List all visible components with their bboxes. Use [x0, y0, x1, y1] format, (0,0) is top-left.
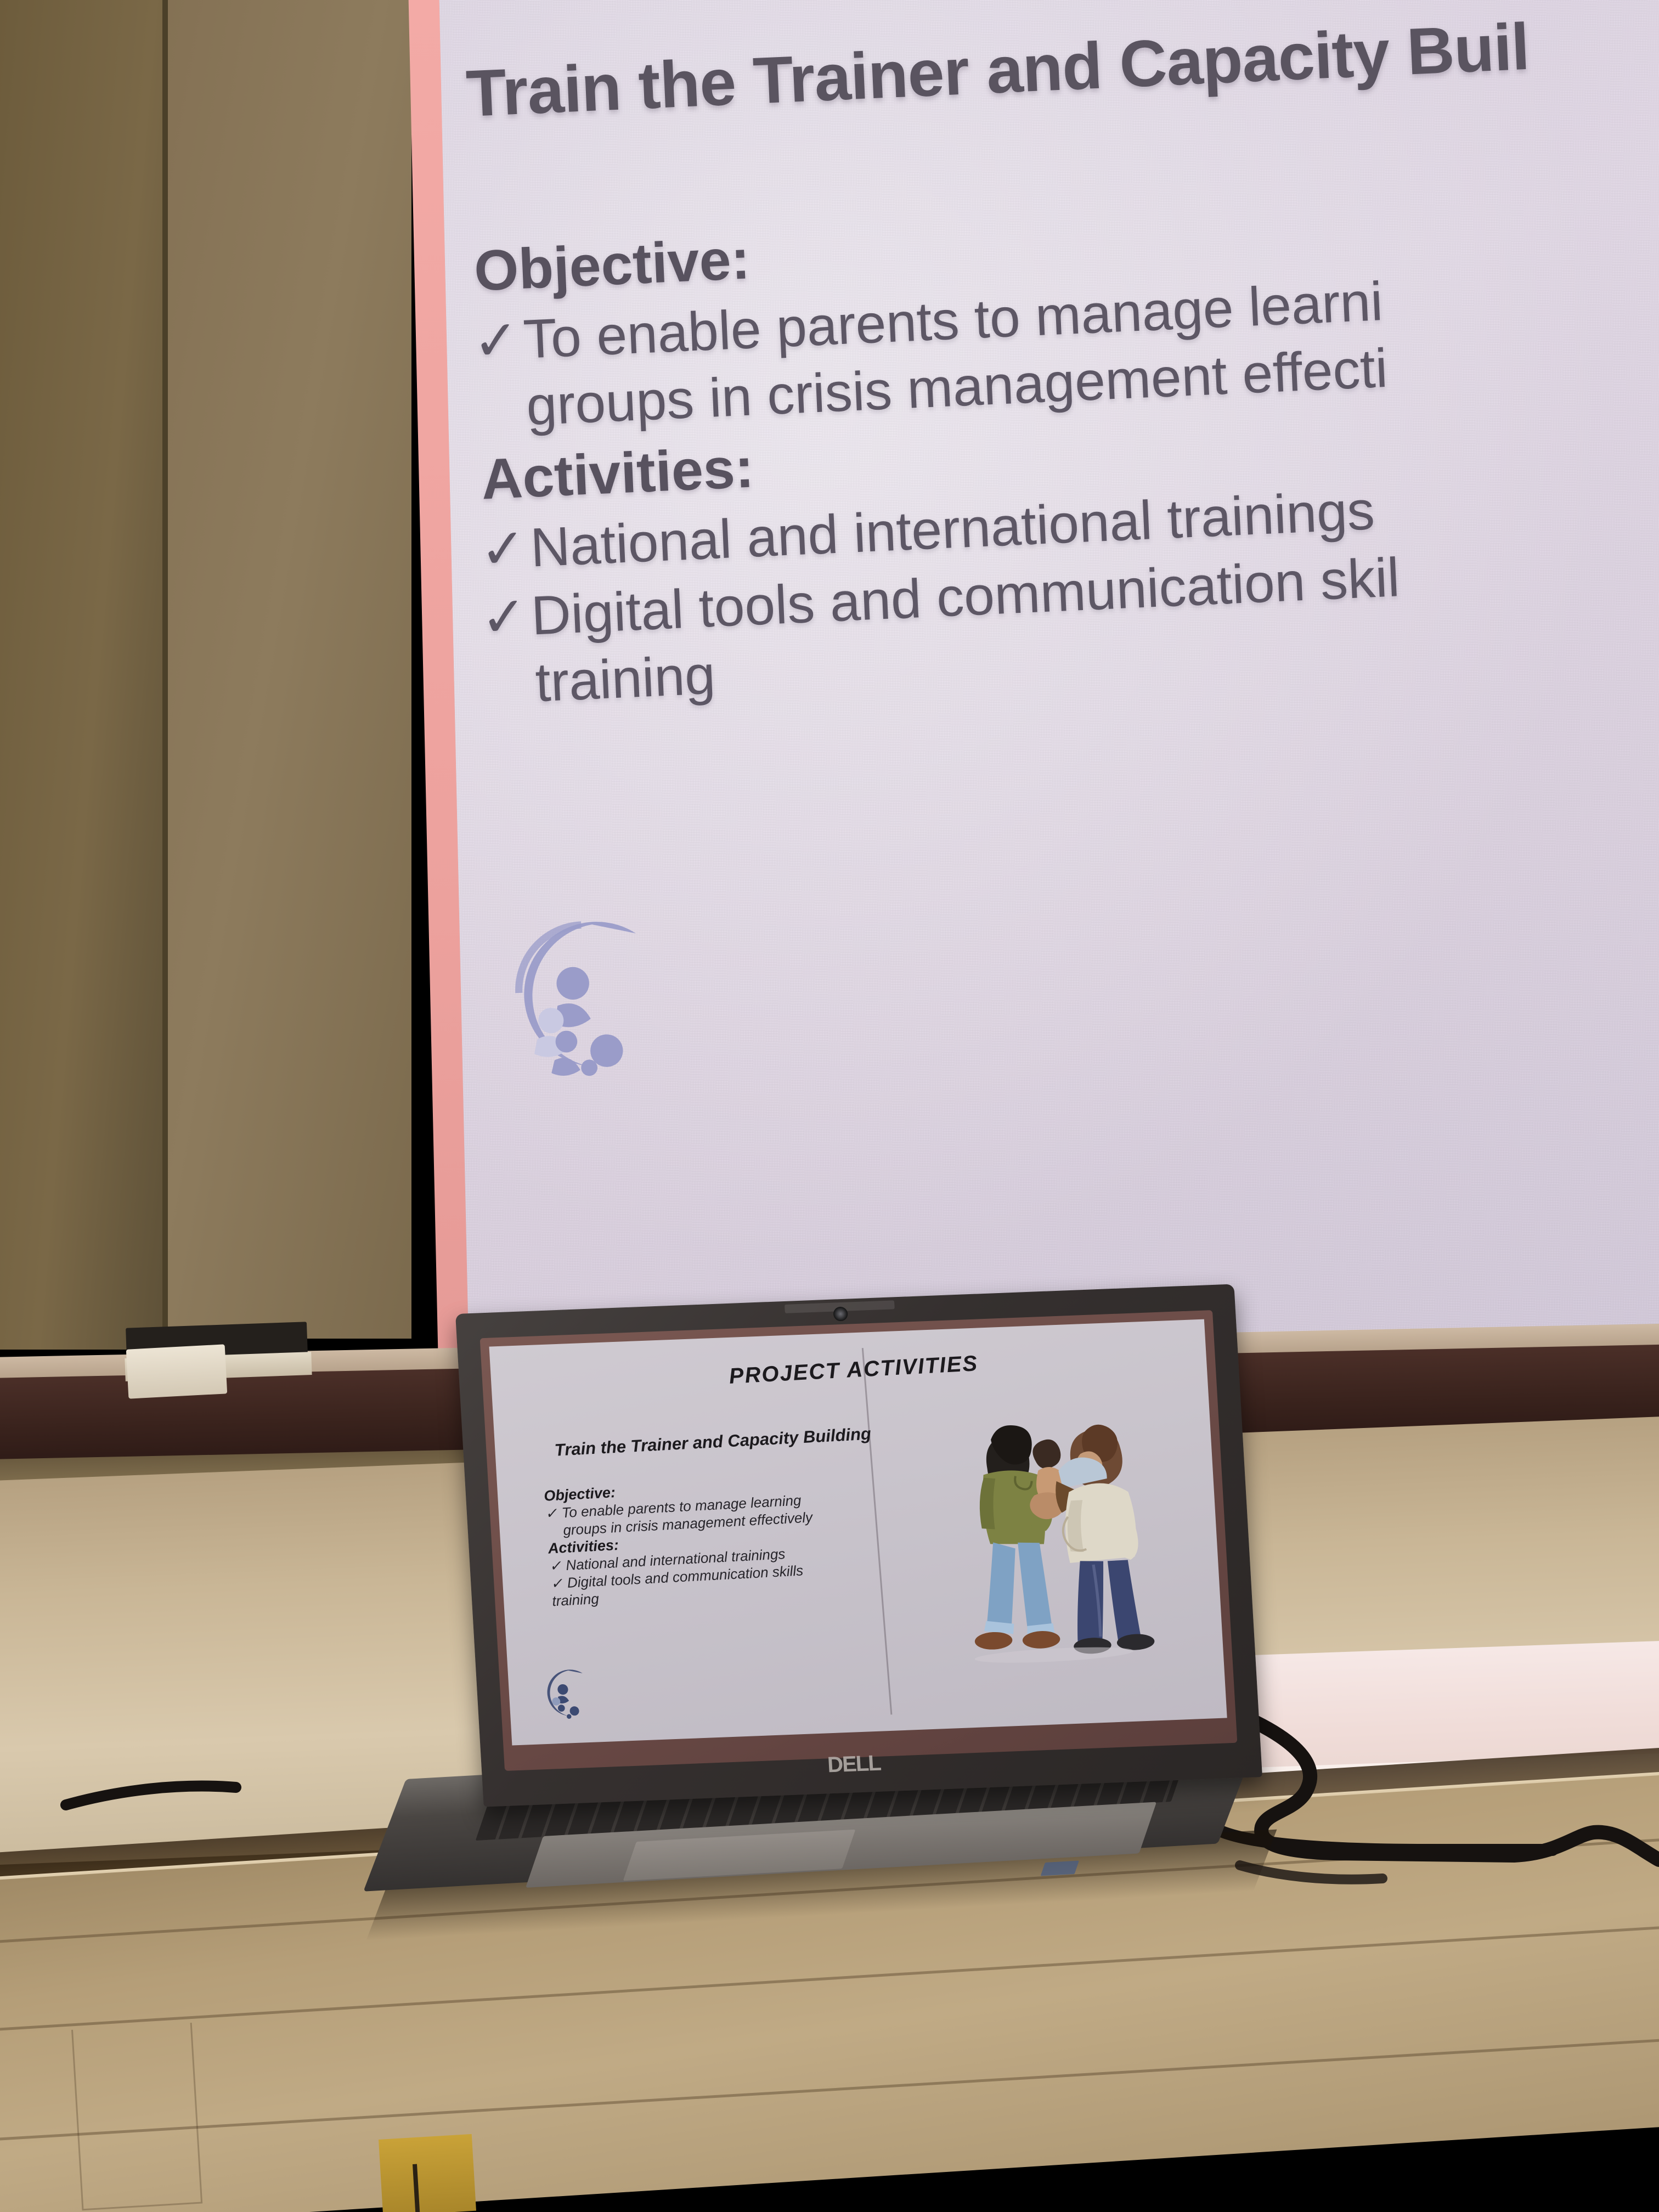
crescent-family-logo [486, 889, 675, 1084]
wall-panel-middle [168, 0, 411, 1339]
laptop-slide: PROJECT ACTIVITIES Train the Trainer and… [489, 1319, 1227, 1746]
figure-child-left-hair [1032, 1439, 1062, 1469]
laptop-lid: PROJECT ACTIVITIES Train the Trainer and… [455, 1284, 1262, 1807]
projection-screen-frame: PROJECT ACTIVITIES Train the Trainer and… [408, 0, 1659, 1409]
check-icon: ✓ [550, 1575, 568, 1593]
check-icon: ✓ [472, 307, 525, 374]
check-icon: ✓ [545, 1504, 562, 1522]
slide-body: Objective: ✓To enable parents to manage … [543, 1468, 915, 1610]
laptop-screen[interactable]: PROJECT ACTIVITIES Train the Trainer and… [489, 1319, 1227, 1746]
indent-spacer [547, 1535, 563, 1536]
projected-activities-bullet-2-cont: training [534, 644, 716, 714]
desk-seam-panel [71, 2023, 202, 2210]
projected-slide: PROJECT ACTIVITIES Train the Trainer and… [439, 0, 1659, 1356]
line-text: training [551, 1590, 600, 1609]
figure-parent-left [958, 1423, 1079, 1652]
slide-subtitle: Train the Trainer and Capacity Building [554, 1424, 872, 1460]
dell-logo: DELL [815, 1751, 893, 1779]
check-icon: ✓ [478, 516, 532, 582]
check-icon: ✓ [549, 1557, 566, 1575]
check-icon: ✓ [479, 584, 533, 650]
projected-activities-heading: Activities: [480, 435, 755, 512]
wall-panel-left [0, 0, 165, 1350]
whiteboard-eraser [126, 1344, 227, 1398]
figure-parent-right [1051, 1423, 1155, 1655]
crescent-family-logo [534, 1658, 597, 1723]
laptop-bezel: PROJECT ACTIVITIES Train the Trainer and… [480, 1310, 1238, 1771]
laptop: PROJECT ACTIVITIES Train the Trainer and… [455, 1314, 1262, 1884]
laptop-sticker [1041, 1861, 1079, 1876]
projected-objective-heading: Objective: [473, 227, 752, 304]
conference-room-scene: PROJECT ACTIVITIES Train the Trainer and… [0, 0, 1659, 2212]
projected-slide-title: Train the Trainer and Capacity Buil [465, 9, 1531, 132]
webcam-icon [833, 1307, 848, 1322]
two-parents-holding-children-illustration [890, 1380, 1200, 1697]
desk-gold-plate [379, 2134, 476, 2212]
projection-screen-surface: PROJECT ACTIVITIES Train the Trainer and… [439, 0, 1659, 1356]
